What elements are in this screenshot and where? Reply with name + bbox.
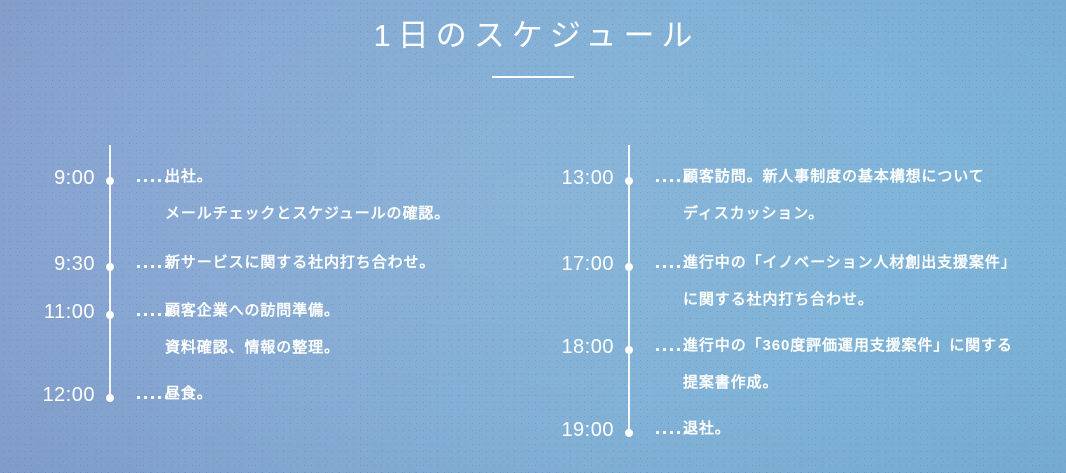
entry-time: 12:00 — [19, 385, 95, 405]
entry-line: 出社。 — [165, 169, 510, 184]
entry-line: ディスカッション。 — [683, 206, 1058, 221]
schedule-poster: 1日のスケジュール 9:00 出社。 メールチェックとスケジュールの確認。 9:… — [0, 0, 1066, 473]
entry-description: 新サービスに関する社内打ち合わせ。 — [165, 255, 510, 270]
entry-line: 昼食。 — [165, 386, 510, 401]
entry-time: 19:00 — [538, 420, 614, 440]
timeline-rail-right — [628, 145, 630, 433]
timeline-columns: 9:00 出社。 メールチェックとスケジュールの確認。 9:30 新サービ — [0, 145, 1066, 473]
entry-description: 昼食。 — [165, 386, 510, 401]
timeline-dot-icon — [106, 263, 114, 271]
page-title: 1日のスケジュール — [0, 0, 1066, 55]
poster-header: 1日のスケジュール — [0, 0, 1066, 78]
dotted-connector-icon — [137, 396, 168, 399]
entry-line: 新サービスに関する社内打ち合わせ。 — [165, 255, 510, 270]
entry-time: 17:00 — [538, 254, 614, 274]
entry-description: 顧客訪問。新人事制度の基本構想について ディスカッション。 — [683, 169, 1058, 221]
entry-time: 9:30 — [19, 254, 95, 274]
dotted-connector-icon — [137, 265, 168, 268]
dotted-connector-icon — [137, 313, 168, 316]
timeline-dot-icon — [625, 346, 633, 354]
entry-line: 進行中の「360度評価運用支援案件」に関する — [683, 338, 1058, 353]
timeline-dot-icon — [106, 177, 114, 185]
entry-description: 顧客企業への訪問準備。 資料確認、情報の整理。 — [165, 303, 510, 355]
entry-description: 退社。 — [683, 421, 1058, 436]
entry-line: 提案書作成。 — [683, 375, 1058, 390]
title-divider — [492, 76, 574, 78]
timeline-dot-icon — [106, 394, 114, 402]
entry-time: 11:00 — [19, 302, 95, 322]
entry-line: 顧客訪問。新人事制度の基本構想について — [683, 169, 1058, 184]
timeline-dot-icon — [625, 177, 633, 185]
entry-description: 進行中の「イノベーション人材創出支援案件」 に関する社内打ち合わせ。 — [683, 255, 1058, 307]
entry-line: メールチェックとスケジュールの確認。 — [165, 206, 510, 221]
entry-time: 13:00 — [538, 168, 614, 188]
entry-line: 退社。 — [683, 421, 1058, 436]
entry-line: 進行中の「イノベーション人材創出支援案件」 — [683, 255, 1058, 270]
entry-time: 9:00 — [19, 168, 95, 188]
entry-line: 顧客企業への訪問準備。 — [165, 303, 510, 318]
entry-time: 18:00 — [538, 337, 614, 357]
timeline-dot-icon — [625, 263, 633, 271]
entry-line: 資料確認、情報の整理。 — [165, 340, 510, 355]
entry-description: 出社。 メールチェックとスケジュールの確認。 — [165, 169, 510, 221]
timeline-dot-icon — [625, 429, 633, 437]
timeline-dot-icon — [106, 311, 114, 319]
entry-line: に関する社内打ち合わせ。 — [683, 292, 1058, 307]
entry-description: 進行中の「360度評価運用支援案件」に関する 提案書作成。 — [683, 338, 1058, 390]
dotted-connector-icon — [137, 179, 168, 182]
